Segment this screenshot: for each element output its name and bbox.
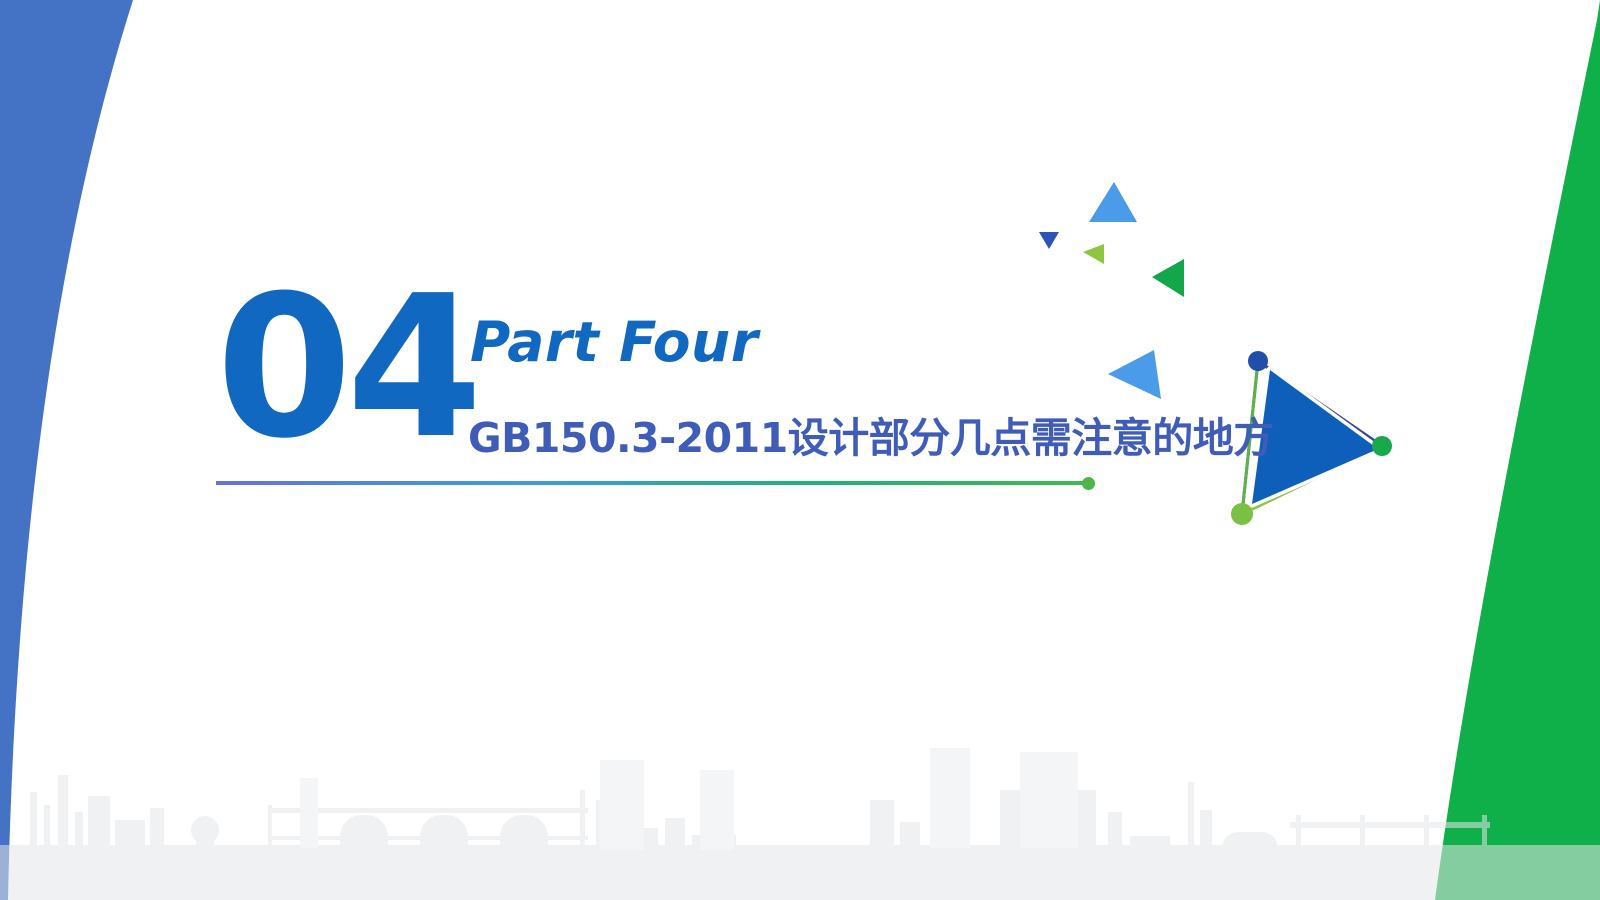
node-bottom-left [1231,503,1253,525]
presentation-slide: 04 Part Four GB150.3-2011设计部分几点需注意的地方 [0,0,1600,900]
title-block: 04 Part Four GB150.3-2011设计部分几点需注意的地方 [216,286,1276,496]
triangle-light-blue-up [1089,182,1137,222]
triangle-dark-blue-down [1039,232,1059,249]
divider-end-dot [1082,477,1095,490]
divider [216,476,1096,490]
divider-line [216,481,1088,485]
page-title: GB150.3-2011设计部分几点需注意的地方 [468,404,1274,464]
node-right [1372,436,1392,456]
part-label: Part Four [470,310,758,374]
triangle-light-green-left [1083,244,1104,264]
section-number: 04 [216,270,477,466]
